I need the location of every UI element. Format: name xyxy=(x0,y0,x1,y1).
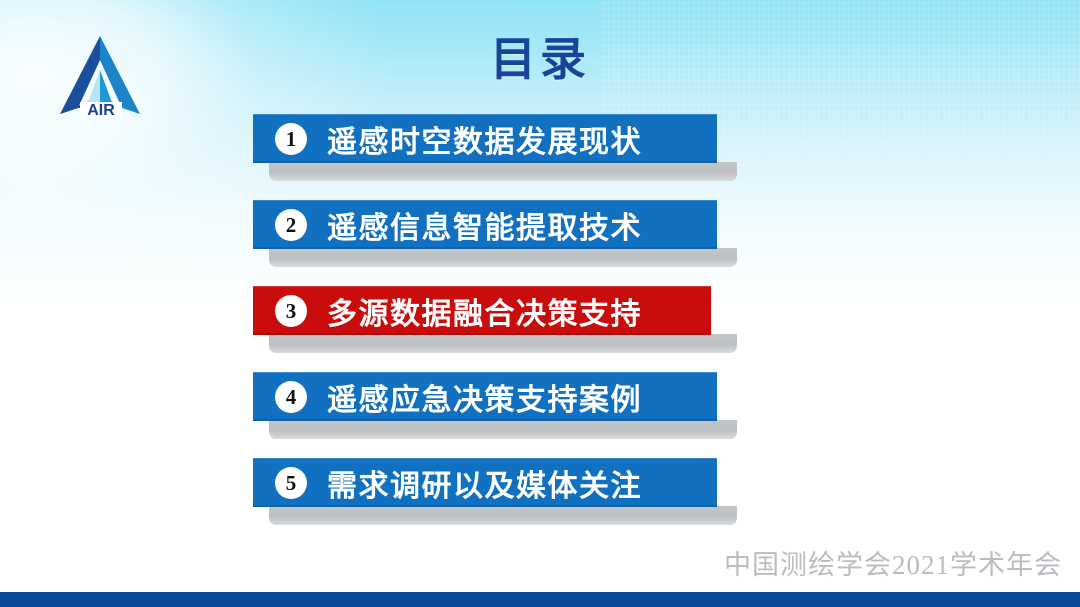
agenda-item-label: 遥感应急决策支持案例 xyxy=(327,375,717,419)
agenda-item-number: 3 xyxy=(275,295,307,327)
agenda-item-bar[interactable]: 4 遥感应急决策支持案例 xyxy=(253,372,717,421)
agenda-item-label: 需求调研以及媒体关注 xyxy=(327,461,717,505)
slide-canvas: AIR 目录 1 遥感时空数据发展现状 2 遥感信息智能提取技术 3 多源数据融… xyxy=(0,0,1080,607)
footer-conference-name: 中国测绘学会2021学术年会 xyxy=(724,543,1062,582)
footer-accent-bar xyxy=(0,592,1080,607)
agenda-item-1[interactable]: 1 遥感时空数据发展现状 xyxy=(253,114,733,200)
agenda-item-bar[interactable]: 5 需求调研以及媒体关注 xyxy=(253,458,717,507)
agenda-item-bar[interactable]: 1 遥感时空数据发展现状 xyxy=(253,114,717,163)
agenda-item-bar-active[interactable]: 3 多源数据融合决策支持 xyxy=(253,286,711,335)
agenda-item-5[interactable]: 5 需求调研以及媒体关注 xyxy=(253,458,733,544)
agenda-item-number: 5 xyxy=(275,467,307,499)
agenda-item-shadow xyxy=(269,248,737,267)
agenda-item-label: 遥感信息智能提取技术 xyxy=(327,203,717,247)
agenda-item-number: 1 xyxy=(275,123,307,155)
agenda-item-shadow xyxy=(269,420,737,439)
agenda-list: 1 遥感时空数据发展现状 2 遥感信息智能提取技术 3 多源数据融合决策支持 4… xyxy=(253,114,733,544)
agenda-item-3[interactable]: 3 多源数据融合决策支持 xyxy=(253,286,733,372)
agenda-item-2[interactable]: 2 遥感信息智能提取技术 xyxy=(253,200,733,286)
agenda-item-label: 多源数据融合决策支持 xyxy=(327,289,711,333)
air-logo-wordmark: AIR xyxy=(87,102,115,119)
agenda-item-shadow xyxy=(269,334,737,353)
agenda-item-label: 遥感时空数据发展现状 xyxy=(327,117,717,161)
agenda-item-number: 2 xyxy=(275,209,307,241)
agenda-item-shadow xyxy=(269,162,737,181)
agenda-item-shadow xyxy=(269,506,737,525)
agenda-item-number: 4 xyxy=(275,381,307,413)
agenda-item-bar[interactable]: 2 遥感信息智能提取技术 xyxy=(253,200,717,249)
agenda-item-4[interactable]: 4 遥感应急决策支持案例 xyxy=(253,372,733,458)
page-title: 目录 xyxy=(0,36,1080,82)
